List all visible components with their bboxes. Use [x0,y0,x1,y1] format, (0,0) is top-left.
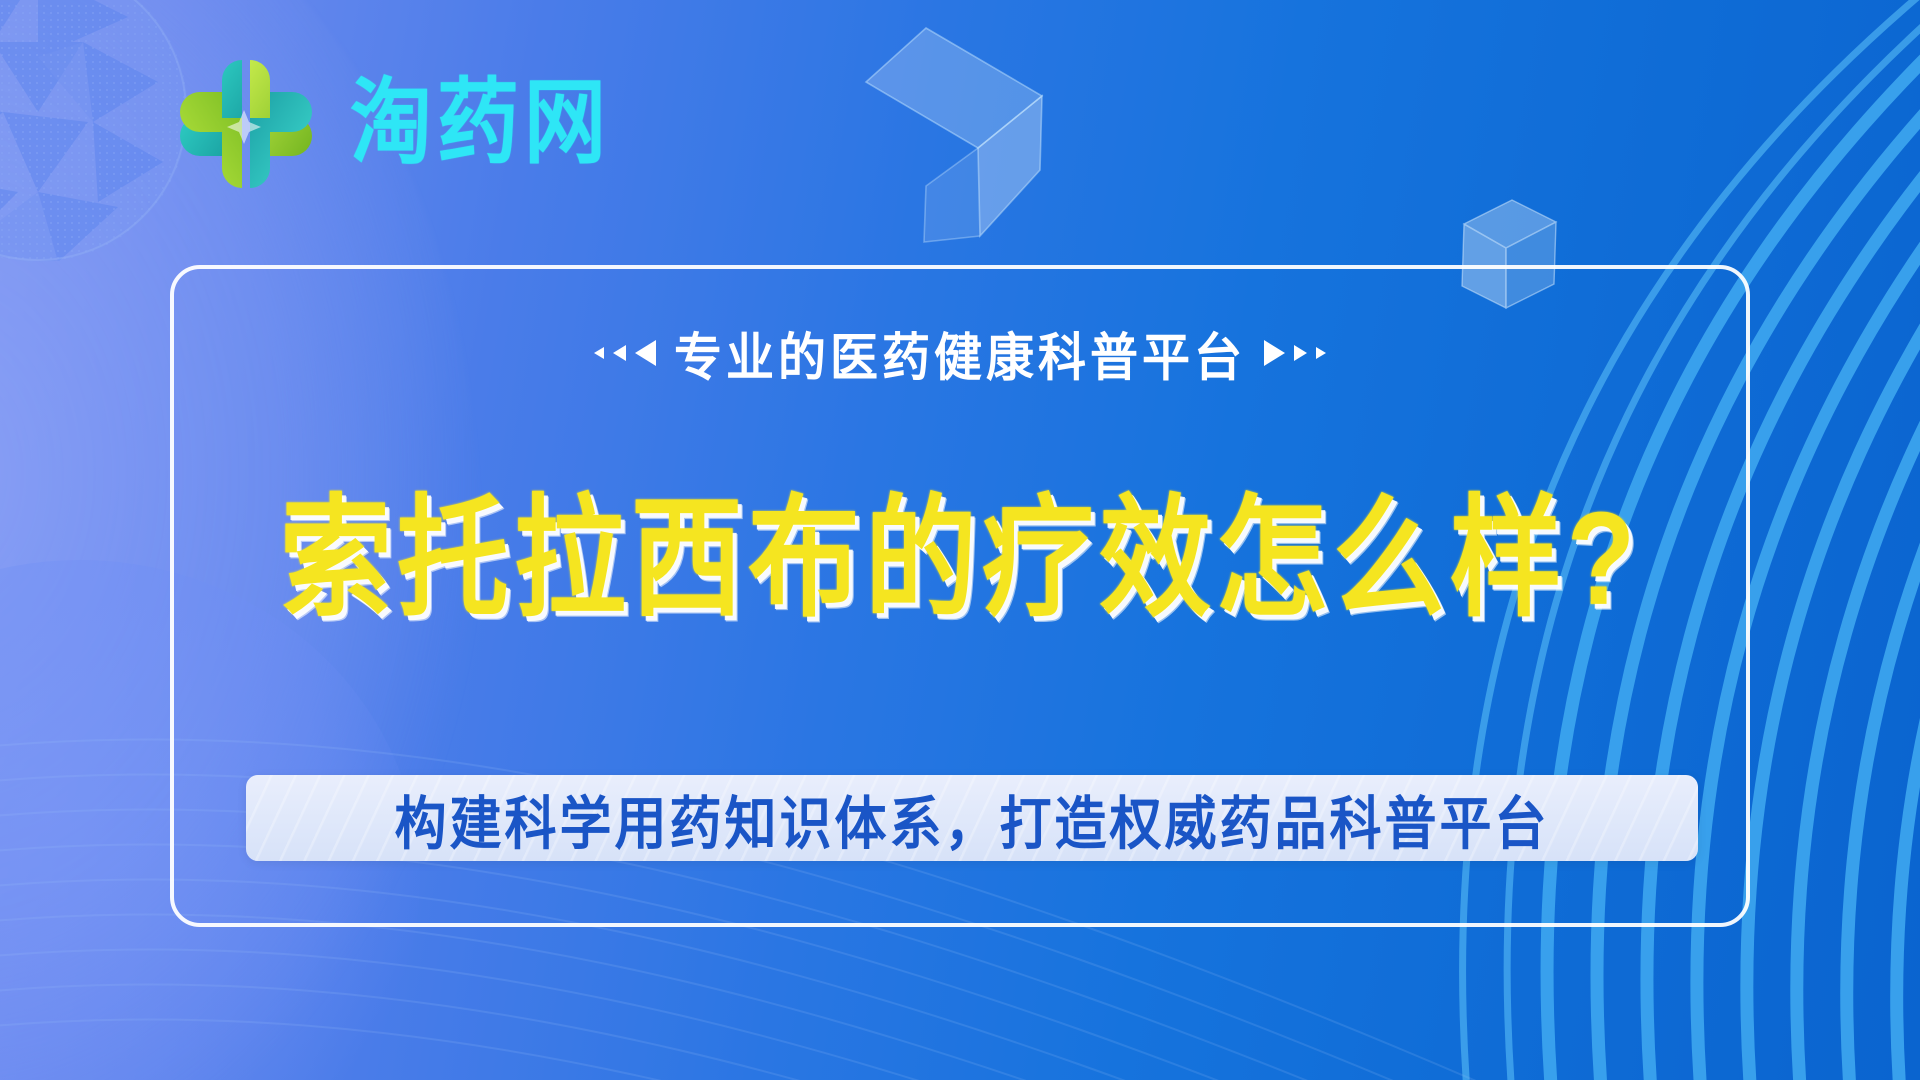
tagline-row: 专业的医药健康科普平台 [0,318,1920,388]
left-triangle-arrows-icon [594,340,656,366]
footer-slogan-text: 构建科学用药知识体系，打造权威药品科普平台 [394,777,1549,860]
tagline-text: 专业的医药健康科普平台 [674,315,1246,391]
banner-canvas: 淘药网 专业的医药健康科普平台 索托拉西布的疗效怎么样? 构建科学用药知识体系，… [0,0,1920,1080]
brand-name: 淘药网 [350,77,611,170]
translucent-folded-cube-icon [860,20,1060,250]
triangular-mesh-circle-decoration [0,0,188,262]
right-triangle-arrows-icon [1264,340,1326,366]
page-title: 索托拉西布的疗效怎么样? [0,489,1920,628]
brand-logo[interactable]: 淘药网 [168,48,611,200]
pinwheel-cross-medical-icon [168,48,320,200]
footer-slogan-bar: 构建科学用药知识体系，打造权威药品科普平台 [246,775,1698,861]
